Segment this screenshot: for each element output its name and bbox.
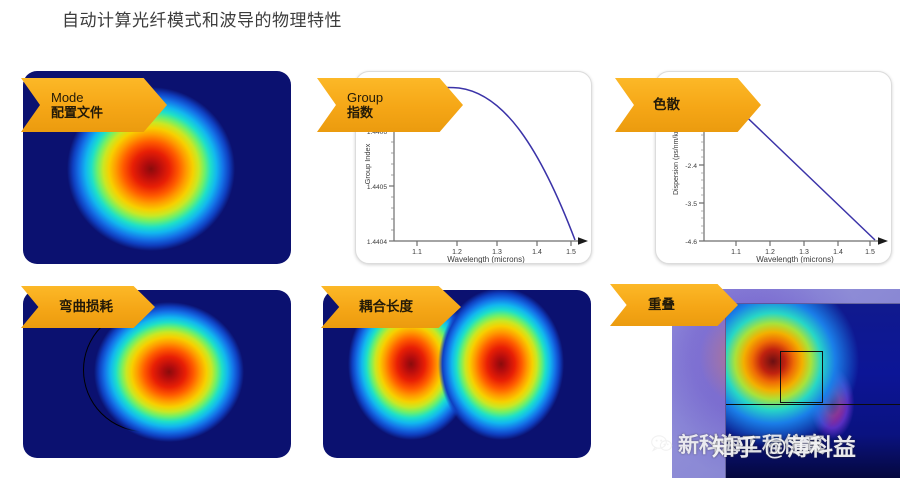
banner-line2: 色散 [653, 97, 761, 113]
gi-xtick-4: 1.5 [566, 249, 576, 256]
banner-bending-loss[interactable]: 弯曲损耗 [21, 286, 155, 328]
gi-ytick-0: 1.4404 [367, 239, 388, 246]
banner-line2: 耦合长度 [359, 299, 461, 315]
dp-xtick-3: 1.4 [833, 249, 843, 256]
banner-line1: Group [347, 90, 463, 105]
slide-canvas: 自动计算光纤模式和波导的物理特性 Mode 配置文件 [0, 0, 900, 478]
panel-bending-loss[interactable]: 弯曲损耗 [23, 290, 291, 458]
banner-coupling-length[interactable]: 耦合长度 [321, 286, 461, 328]
panel-mode-profile[interactable]: Mode 配置文件 [23, 71, 291, 264]
gi-xlabel: Wavelength (microns) [447, 255, 525, 264]
page-title: 自动计算光纤模式和波导的物理特性 [62, 6, 342, 31]
panel-dispersion[interactable]: -4.6 -3.5 -2.4 -1.3 1.1 1.2 1.3 1.4 1.5 … [655, 71, 892, 264]
dp-xlabel: Wavelength (microns) [756, 255, 834, 264]
gi-ylabel: Group Index [363, 143, 372, 184]
gi-xtick-3: 1.4 [532, 249, 542, 256]
panel-coupling-length[interactable]: 耦合长度 [323, 290, 591, 458]
banner-dispersion[interactable]: 色散 [615, 78, 761, 132]
banner-line2: 重叠 [648, 297, 738, 313]
gi-xtick-0: 1.1 [412, 249, 422, 256]
banner-line2: 弯曲损耗 [59, 299, 155, 315]
dp-ytick-1: -2.4 [685, 163, 697, 170]
overlap-baseline [726, 404, 900, 405]
overlap-region-box [780, 351, 823, 403]
banner-group-index[interactable]: Group 指数 [317, 78, 463, 132]
dp-ytick-3: -4.6 [685, 239, 697, 246]
panel-overlap[interactable]: 重叠 [672, 289, 900, 478]
banner-mode-profile[interactable]: Mode 配置文件 [21, 78, 167, 132]
dp-ylabel: Dispersion (ps/nm/km) [673, 125, 680, 195]
banner-line1: Mode [51, 90, 167, 105]
overlap-inset-field [726, 304, 900, 478]
dp-ytick-2: -3.5 [685, 201, 697, 208]
dp-xtick-4: 1.5 [865, 249, 875, 256]
banner-overlap[interactable]: 重叠 [610, 284, 738, 326]
mode-intensity-blob-right [438, 290, 564, 440]
banner-line2: 配置文件 [51, 105, 167, 120]
panel-group-index[interactable]: 1.4404 1.4405 1.4406 1.1 1.2 1.3 1.4 1.5… [355, 71, 592, 264]
banner-line2: 指数 [347, 105, 463, 120]
dp-xtick-0: 1.1 [731, 249, 741, 256]
wechat-icon [651, 435, 673, 453]
